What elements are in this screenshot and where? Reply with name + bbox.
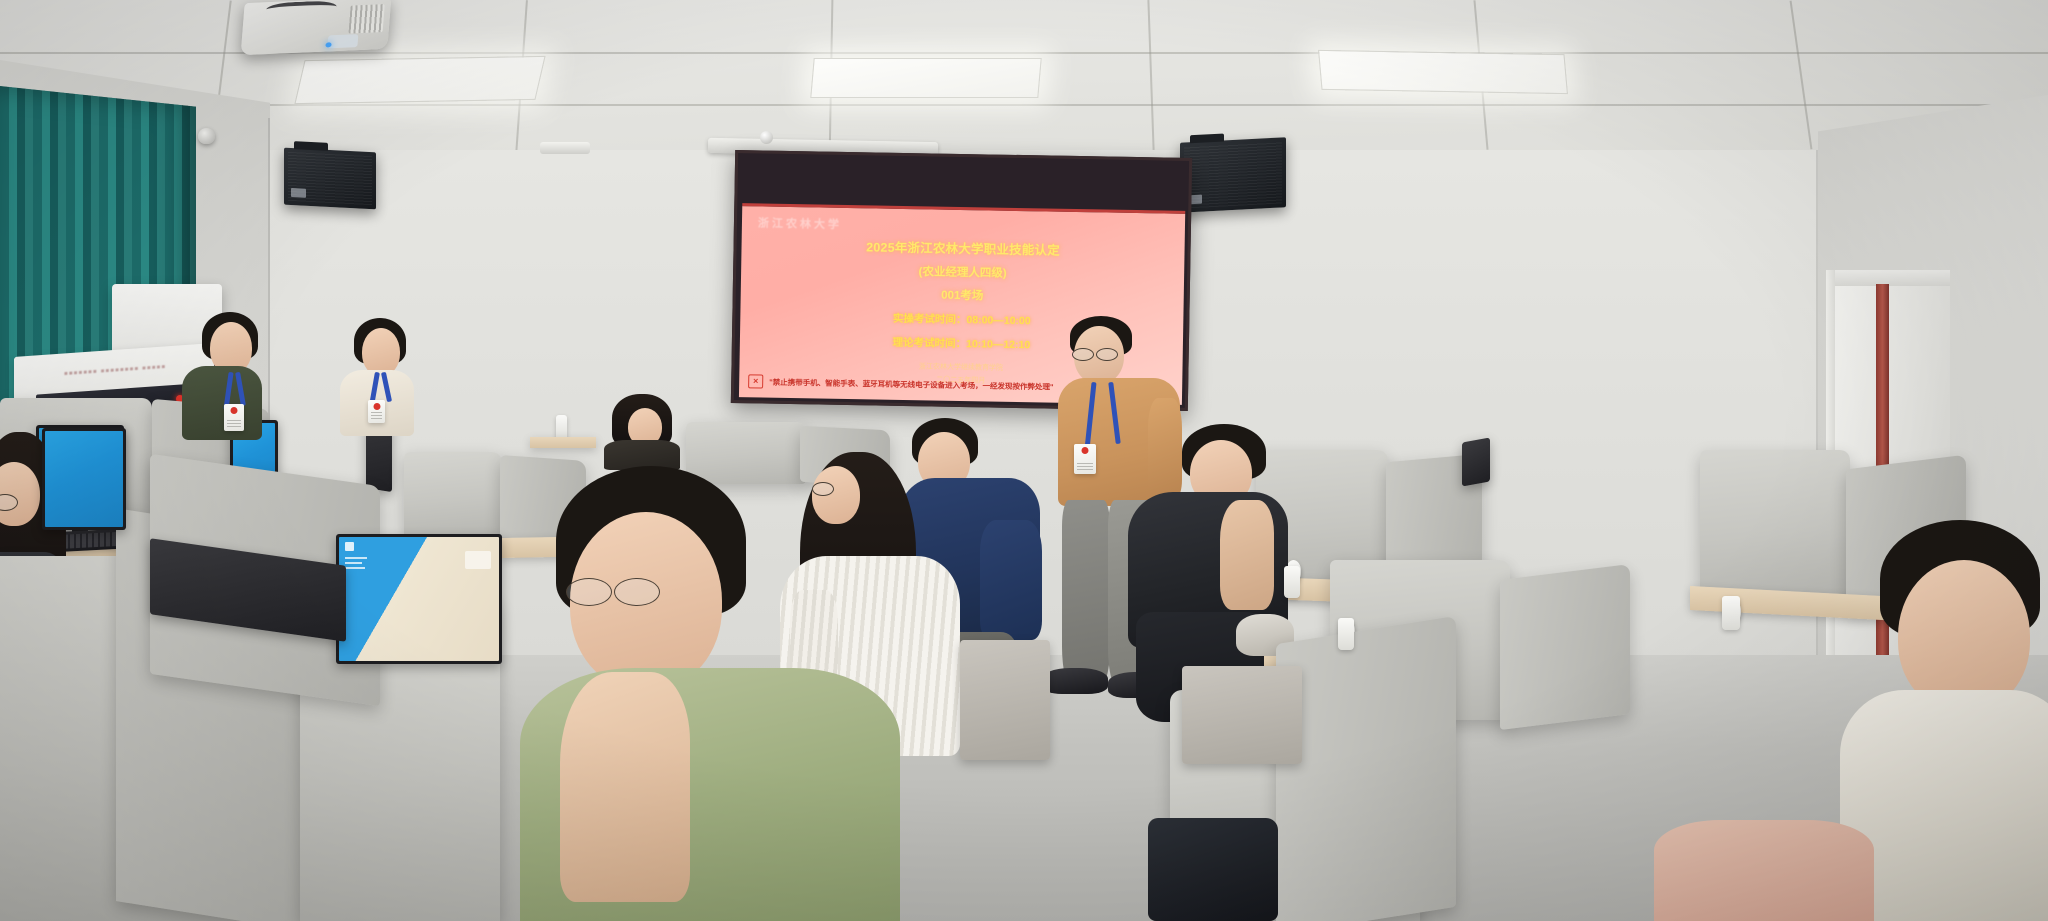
surveillance-camera-icon [198,128,215,144]
slide-practical-exam-time: 实操考试时间：08:00—10:00 [893,311,1031,328]
invigilator-shoe-left [1042,668,1108,694]
projector-lens [327,34,358,48]
ceiling-projector [241,0,392,55]
ceiling-light-center [810,58,1041,98]
invigilator-arm-right [1148,398,1182,498]
invigilator-leg-left [1062,500,1110,688]
candidate-foreground-glasses-right [614,578,660,606]
proctor-1-badge [224,404,244,431]
no-phone-icon: ✕ [748,374,763,388]
right-wall-speaker [1180,137,1286,213]
water-bottle-4[interactable] [1722,596,1740,630]
partition-back-5 [686,422,806,484]
ceiling-sensor [540,142,590,154]
slide-warning-text: "禁止携带手机、智能手表、蓝牙耳机等无线电子设备进入考场，一经发现按作弊处理" [769,376,1053,392]
invigilator-glasses-right [1096,348,1118,361]
desk-back-right [530,437,596,448]
partition-foreground-right-side [1276,616,1456,921]
projector-vent [348,4,384,33]
slide-room-number: 001考场 [941,287,983,304]
monitor-right-rear-1 [1462,438,1490,487]
projector-cable [265,0,337,19]
projector-screen: 浙江农林大学 2025年浙江农林大学职业技能认定 (农业经理人四级) 001考场… [731,150,1192,411]
slide-watermark: 浙江农林大学 [758,214,842,231]
chair-center-1[interactable] [960,640,1050,760]
door-header [1830,270,1950,286]
partition-back-3 [404,452,502,538]
monitor-foreground-login[interactable] [336,534,502,664]
partition-right-3 [1700,450,1850,600]
candidate-striped-glasses [812,482,834,496]
slide-organization: 浙江农林大学继续教育学院 [919,361,1003,372]
monitor-mid-left[interactable] [42,428,126,530]
ceiling-light-left [294,56,545,104]
slide-title: 2025年浙江农林大学职业技能认定 [866,236,1060,258]
candidate-foreground-glasses-left [566,578,612,606]
ceiling-light-right [1318,50,1568,94]
water-bottle-3[interactable] [1338,618,1354,650]
slide-subtitle: (农业经理人四级) [918,263,1006,281]
left-wall-speaker [284,148,376,210]
backpack-under-desk[interactable] [1148,818,1278,921]
printer-label: ■■■■■■■ ■■■■■■■■ ■■■■■ [64,364,166,377]
screen-mount-knob [760,131,773,144]
invigilator-glasses [1072,348,1094,361]
candidate-black-arm [1220,500,1274,610]
water-bottle-2[interactable] [1284,566,1300,598]
invigilator-badge [1074,444,1096,474]
exam-room-photo: 浙江农林大学 2025年浙江农林大学职业技能认定 (农业经理人四级) 001考场… [0,0,2048,921]
slide-theory-exam-time: 理论考试时间：10:10—12:10 [892,335,1030,352]
partition-right-6 [1500,564,1630,730]
proctor-2-badge [368,400,385,423]
chair-right-1[interactable] [1182,666,1302,764]
login-screen[interactable] [339,537,499,661]
